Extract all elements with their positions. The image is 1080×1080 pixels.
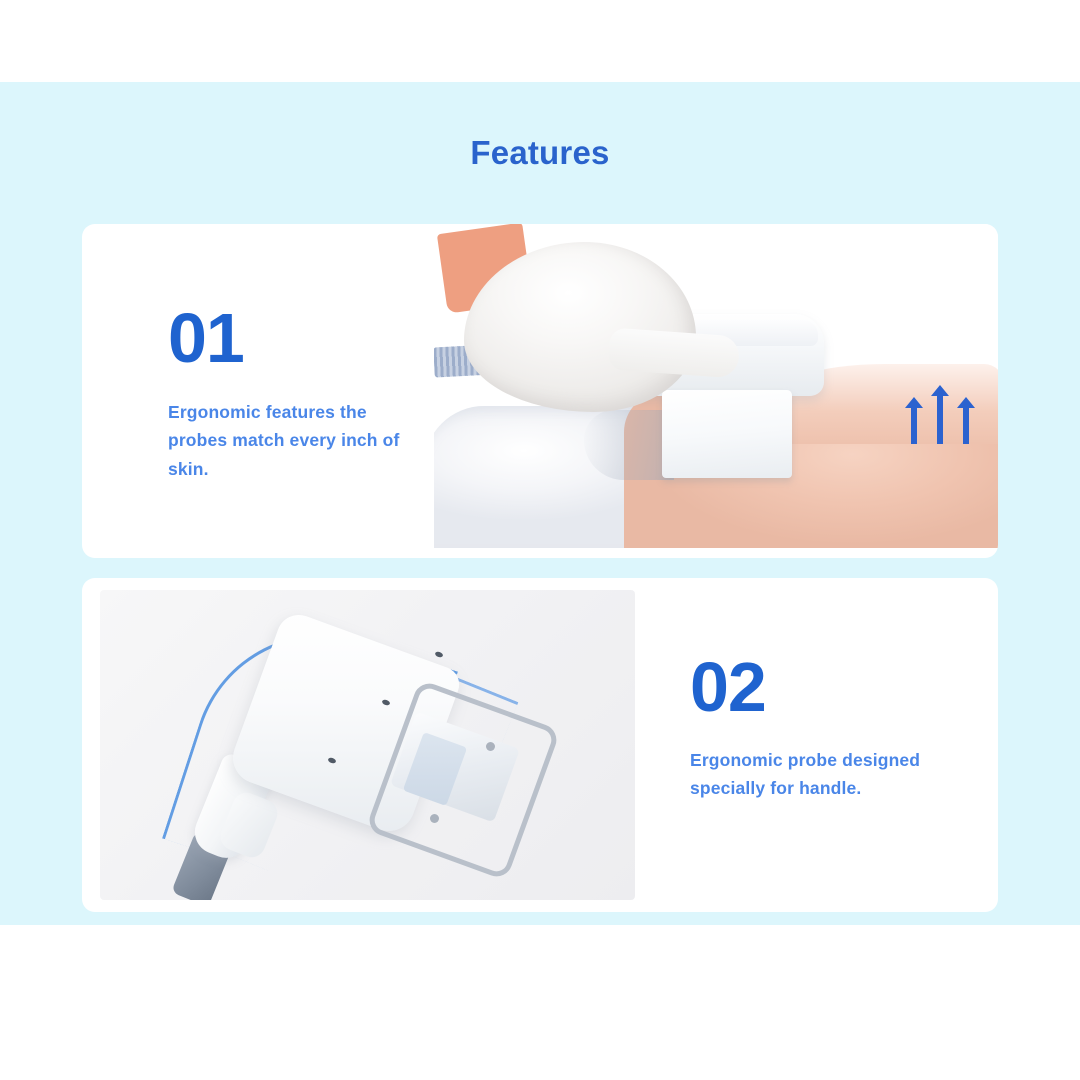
towel-shadow-shape <box>584 410 674 480</box>
up-arrow-right-icon <box>963 406 969 444</box>
feature-card-01: 01 Ergonomic features the probes match e… <box>82 224 998 558</box>
bracket-screw-bottom-shape <box>430 814 439 823</box>
up-arrows-icon <box>909 382 981 444</box>
feature-description-01: Ergonomic features the probes match ever… <box>168 398 428 483</box>
page-title: Features <box>0 134 1080 172</box>
feature-number-02: 02 <box>690 652 766 722</box>
feature-card-02: 02 Ergonomic probe designed specially fo… <box>82 578 998 912</box>
bracket-screw-top-shape <box>486 742 495 751</box>
applicator-head-shape <box>662 390 792 478</box>
up-arrow-center-icon <box>937 394 943 444</box>
feature-description-02: Ergonomic probe designed specially for h… <box>690 746 930 803</box>
probe-vent-top-shape <box>434 651 443 658</box>
feature-image-02 <box>100 590 635 900</box>
glove-thumb-shape <box>608 328 741 379</box>
up-arrow-left-icon <box>911 406 917 444</box>
page-root: Features 01 Ergonomic features the probe… <box>0 0 1080 1080</box>
feature-image-01 <box>434 224 998 548</box>
feature-number-01: 01 <box>168 303 244 373</box>
